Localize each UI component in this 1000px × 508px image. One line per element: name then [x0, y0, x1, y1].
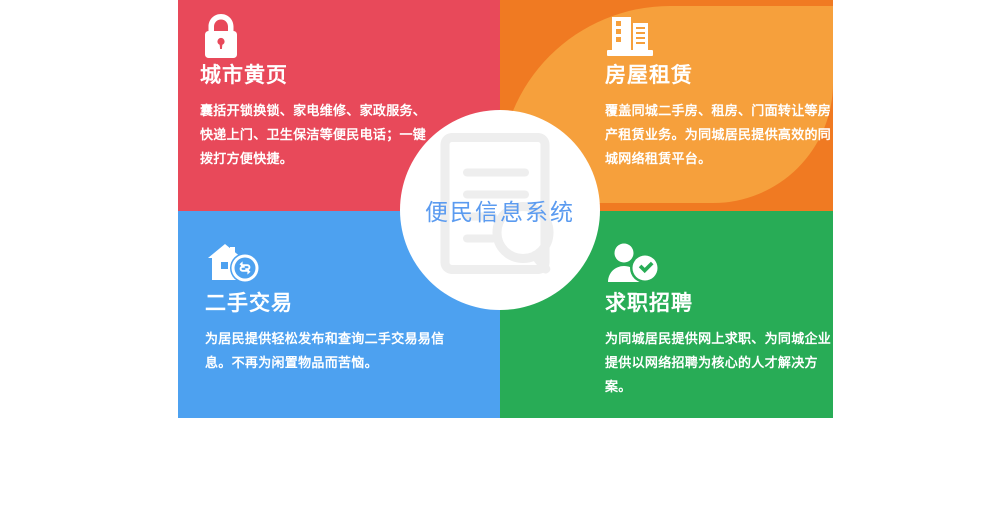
panel-description: 为居民提供轻松发布和查询二手交易易信息。不再为闲置物品而苦恼。 — [205, 327, 455, 375]
building-icon — [605, 12, 833, 60]
panel-content-city-yellow-pages: 城市黄页 囊括开锁换锁、家电维修、家政服务、快递上门、卫生保洁等便民电话；一键拨… — [200, 12, 430, 171]
panel-content-job-recruitment: 求职招聘 为同城居民提供网上求职、为同城企业提供以网络招聘为核心的人才解决方案。 — [605, 240, 833, 399]
panel-title: 城市黄页 — [200, 64, 430, 87]
panel-title: 房屋租赁 — [605, 64, 833, 87]
center-hub[interactable]: 便民信息系统 — [400, 110, 600, 310]
panel-description: 为同城居民提供网上求职、为同城企业提供以网络招聘为核心的人才解决方案。 — [605, 327, 833, 399]
center-hub-label: 便民信息系统 — [425, 193, 575, 227]
panel-description: 囊括开锁换锁、家电维修、家政服务、快递上门、卫生保洁等便民电话；一键拨打方便快捷… — [200, 99, 430, 171]
infographic-stage: 城市黄页 囊括开锁换锁、家电维修、家政服务、快递上门、卫生保洁等便民电话；一键拨… — [0, 0, 1000, 508]
panel-title: 求职招聘 — [605, 292, 833, 315]
panel-content-house-rental: 房屋租赁 覆盖同城二手房、租房、门面转让等房产租赁业务。为同城居民提供高效的同城… — [605, 12, 833, 171]
panel-title: 二手交易 — [205, 292, 455, 315]
person-check-icon — [605, 240, 833, 288]
panel-description: 覆盖同城二手房、租房、门面转让等房产租赁业务。为同城居民提供高效的同城网络租赁平… — [605, 99, 833, 171]
lock-icon — [200, 12, 430, 60]
